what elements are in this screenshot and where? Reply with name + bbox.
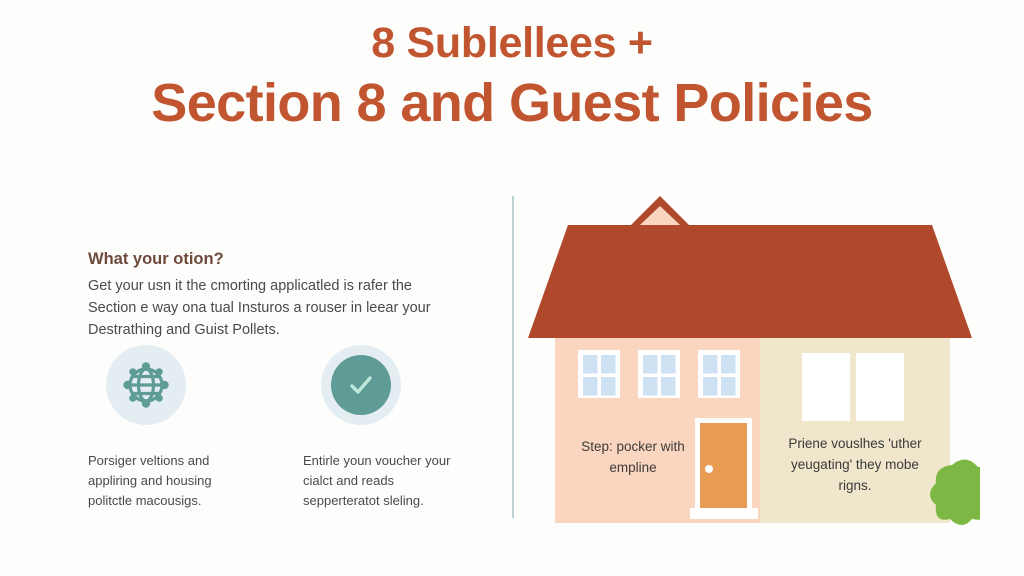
- globe-network-icon-badge: [106, 345, 186, 425]
- check-circle-icon: [331, 355, 391, 415]
- page-title: 8 Sublellees + Section 8 and Guest Polic…: [0, 22, 1024, 133]
- door-knob-icon: [705, 465, 713, 473]
- check-circle-icon-badge: [321, 345, 401, 425]
- feature-caption-1: Porsiger veltions and appliring and hous…: [88, 451, 248, 510]
- check-icon: [344, 368, 378, 402]
- house-overlay-text-right: Priene vouslhes 'uther yeugating' they m…: [782, 434, 928, 497]
- door-threshold: [690, 508, 758, 519]
- feature-caption-2: Entirle youn voucher your cialct and rea…: [303, 451, 463, 510]
- house-overlay-text-left: Step: pocker with empline: [568, 437, 698, 479]
- left-text-column: What your otion? Get your usn it the cmo…: [88, 250, 478, 341]
- features-row: Porsiger veltions and appliring and hous…: [88, 345, 488, 510]
- house-window-group: [578, 350, 740, 398]
- feature-item-1: Porsiger veltions and appliring and hous…: [88, 345, 248, 510]
- page-title-line-2: Section 8 and Guest Policies: [0, 73, 1024, 133]
- feature-item-2: Entirle youn voucher your cialct and rea…: [303, 345, 463, 510]
- page-title-line-1: 8 Sublellees +: [0, 22, 1024, 65]
- house-roof: [528, 225, 972, 338]
- globe-network-icon: [119, 358, 173, 412]
- vertical-divider: [512, 196, 514, 518]
- section-paragraph: Get your usn it the cmorting applicatled…: [88, 275, 460, 341]
- section-heading: What your otion?: [88, 250, 478, 270]
